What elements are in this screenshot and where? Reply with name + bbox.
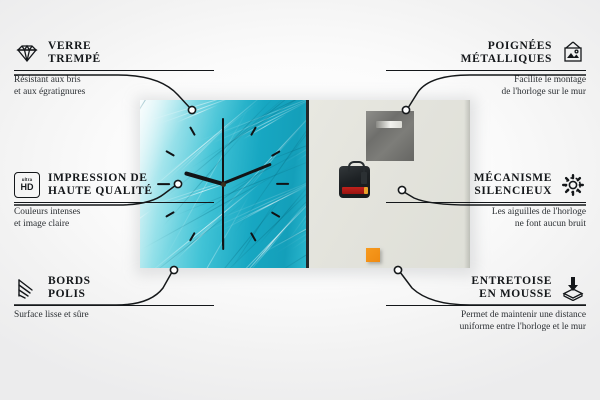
feature-subtitle: Facilite le montage de l'horloge sur le … bbox=[386, 75, 586, 98]
hanger-slot bbox=[376, 121, 402, 128]
title-rule bbox=[386, 202, 586, 203]
feature-subtitle: Les aiguilles de l'horloge ne font aucun… bbox=[386, 207, 586, 230]
feature-mecanisme-silencieux: MÉCANISME SILENCIEUX Les aiguilles de l'… bbox=[386, 172, 586, 230]
feature-verre-trempe: VERRE TREMPÉ Résistant aux bris et aux é… bbox=[14, 40, 214, 98]
mechanism-notch bbox=[361, 172, 367, 184]
battery-plus-terminal bbox=[364, 187, 368, 194]
title-rule bbox=[14, 305, 214, 306]
clock-hub bbox=[221, 182, 226, 187]
feature-header: VERRE TREMPÉ bbox=[14, 40, 214, 66]
feature-title: ENTRETOISE EN MOUSSE bbox=[471, 275, 552, 301]
feature-header: POIGNÉES MÉTALLIQUES bbox=[386, 40, 586, 66]
polished-edges-icon bbox=[14, 275, 40, 301]
feature-title: POIGNÉES MÉTALLIQUES bbox=[461, 40, 552, 66]
title-rule bbox=[14, 202, 214, 203]
title-rule bbox=[386, 305, 586, 306]
hour-marker bbox=[271, 211, 281, 218]
battery bbox=[342, 187, 366, 194]
feature-entretoise-en-mousse: ENTRETOISE EN MOUSSE Permet de maintenir… bbox=[386, 275, 586, 333]
feature-subtitle: Résistant aux bris et aux égratignures bbox=[14, 75, 214, 98]
infographic-canvas: VERRE TREMPÉ Résistant aux bris et aux é… bbox=[0, 0, 600, 400]
hour-marker bbox=[250, 232, 257, 242]
feature-header: MÉCANISME SILENCIEUX bbox=[386, 172, 586, 198]
feature-title: BORDS POLIS bbox=[48, 275, 91, 301]
hour-marker bbox=[189, 232, 196, 242]
title-rule bbox=[386, 70, 586, 71]
foam-spacer bbox=[366, 248, 380, 262]
hour-marker bbox=[271, 150, 281, 157]
feature-impression-haute-qualite: ultra HD IMPRESSION DE HAUTE QUALITÉ Cou… bbox=[14, 172, 214, 230]
mechanism-hanger-loop bbox=[348, 161, 365, 172]
hd-label: HD bbox=[21, 183, 34, 192]
feature-title: IMPRESSION DE HAUTE QUALITÉ bbox=[48, 172, 153, 198]
picture-frame-hanger-icon bbox=[560, 40, 586, 66]
hour-marker bbox=[189, 126, 196, 136]
title-rule bbox=[14, 70, 214, 71]
hour-marker bbox=[250, 126, 257, 136]
foam-spacer-arrow-icon bbox=[560, 275, 586, 301]
minute-hand bbox=[222, 163, 271, 185]
clock-mechanism bbox=[339, 166, 370, 198]
ultra-hd-badge-icon: ultra HD bbox=[14, 172, 40, 198]
feature-header: ENTRETOISE EN MOUSSE bbox=[386, 275, 586, 301]
diamond-icon bbox=[14, 40, 40, 66]
feature-subtitle: Permet de maintenir une distance uniform… bbox=[386, 310, 586, 333]
gear-icon bbox=[560, 172, 586, 198]
feature-header: ultra HD IMPRESSION DE HAUTE QUALITÉ bbox=[14, 172, 214, 198]
feature-subtitle: Couleurs intenses et image claire bbox=[14, 207, 214, 230]
hour-marker bbox=[276, 183, 289, 185]
feature-title: VERRE TREMPÉ bbox=[48, 40, 101, 66]
second-hand-tail bbox=[222, 124, 224, 184]
feature-subtitle: Surface lisse et sûre bbox=[14, 310, 214, 321]
metal-hanger-plate bbox=[366, 111, 414, 161]
feature-poignees-metalliques: POIGNÉES MÉTALLIQUES Facilite le montage… bbox=[386, 40, 586, 98]
feature-bords-polis: BORDS POLIS Surface lisse et sûre bbox=[14, 275, 214, 322]
feature-title: MÉCANISME SILENCIEUX bbox=[474, 172, 552, 198]
hour-marker bbox=[165, 150, 175, 157]
feature-header: BORDS POLIS bbox=[14, 275, 214, 301]
second-hand bbox=[222, 184, 224, 246]
